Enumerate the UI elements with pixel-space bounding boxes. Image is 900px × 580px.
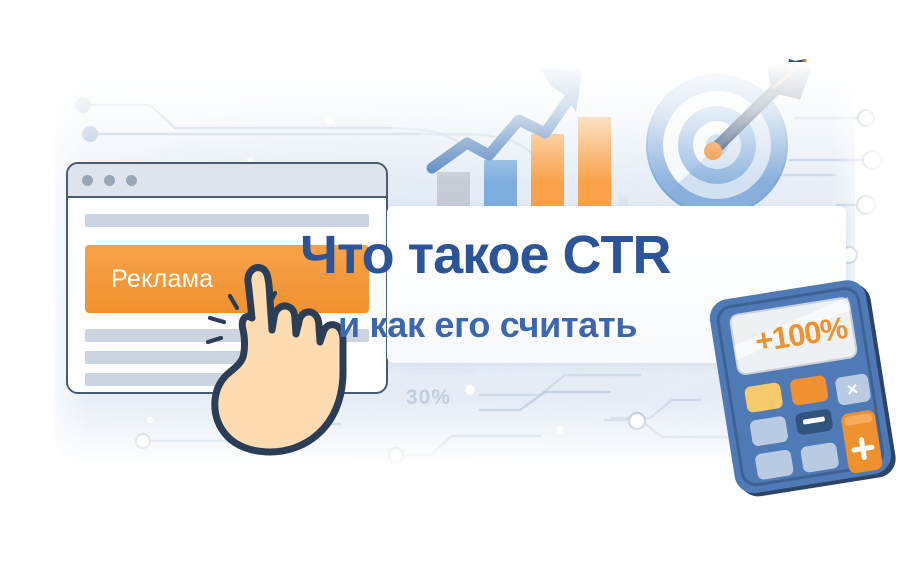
key-grey-3	[800, 442, 840, 473]
key-grey-1	[749, 415, 789, 446]
calculator-illustration: ×	[0, 0, 900, 580]
infographic-canvas: 30%	[0, 0, 900, 580]
calculator-keys: ×	[744, 368, 883, 488]
key-grey-2	[754, 449, 794, 480]
key-orange	[789, 375, 829, 406]
key-yellow	[744, 382, 784, 413]
